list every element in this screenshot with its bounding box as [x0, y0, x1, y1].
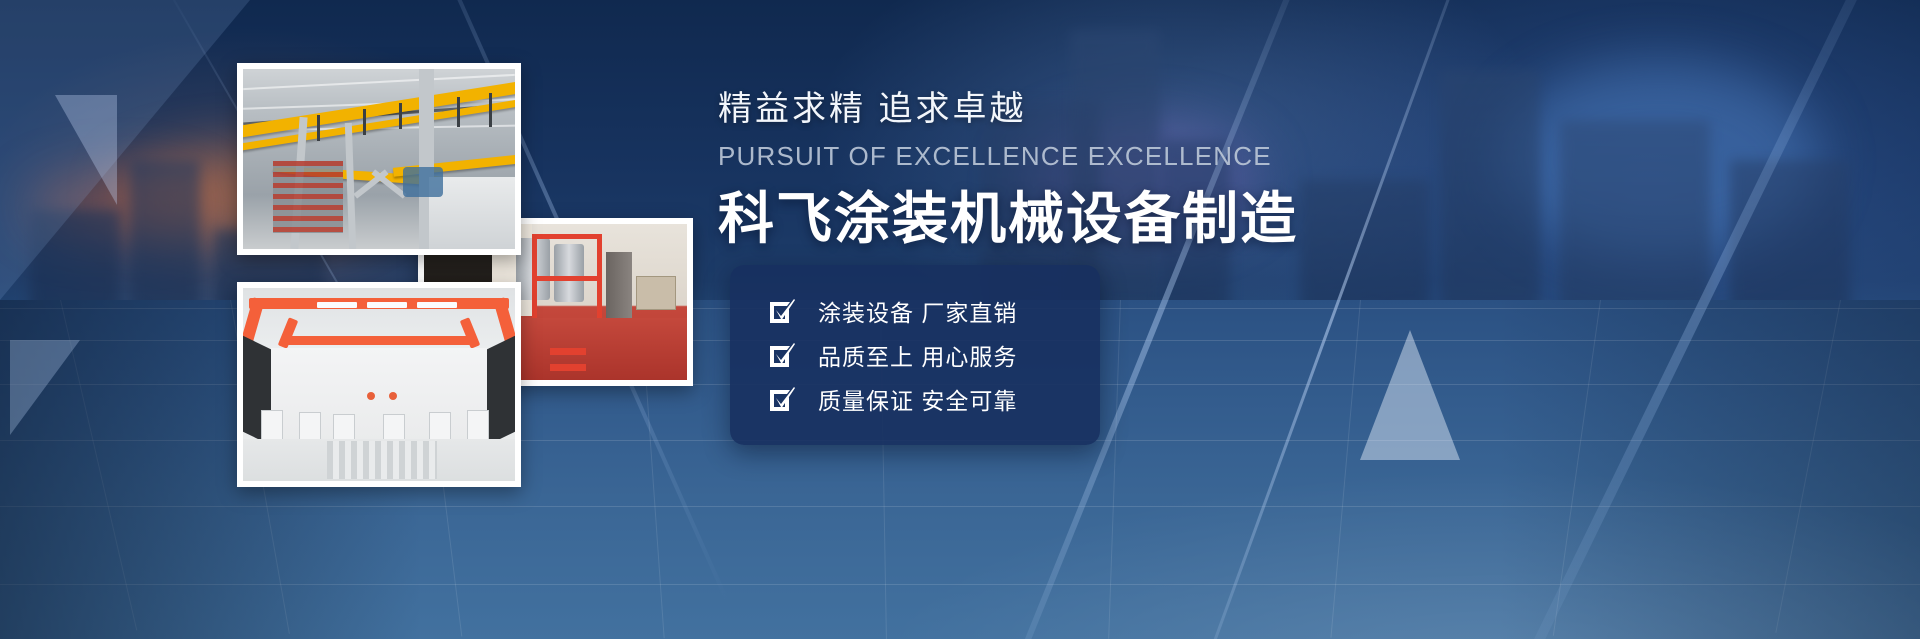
photo-detail [363, 109, 366, 135]
photo-detail [345, 123, 356, 249]
photo-spray-booth [237, 282, 521, 487]
photo-detail [457, 97, 460, 127]
photo-detail [273, 161, 343, 233]
photo-detail [403, 167, 443, 197]
photo-detail [489, 93, 492, 127]
feature-item: 质量保证 安全可靠 [768, 377, 1100, 421]
building [1440, 70, 1540, 330]
photo-detail [636, 276, 676, 310]
feature-label: 涂装设备 厂家直销 [818, 294, 1017, 328]
photo-detail [399, 103, 402, 129]
headline-block: 精益求精 追求卓越 PURSUIT OF EXCELLENCE EXCELLEN… [718, 92, 1318, 247]
photo-detail [417, 302, 457, 308]
checkbox-checked-icon [768, 385, 796, 413]
photo-detail [467, 410, 489, 442]
photo-detail [317, 115, 320, 141]
photo-detail [534, 276, 600, 281]
photo-detail [367, 392, 375, 400]
headline-english: PURSUIT OF EXCELLENCE EXCELLENCE [718, 143, 1318, 169]
feature-item: 品质至上 用心服务 [768, 333, 1100, 377]
light-triangle [55, 95, 117, 205]
light-ray [0, 0, 250, 300]
photo-detail [389, 392, 397, 400]
photo-detail [261, 410, 283, 442]
photo-image [243, 288, 515, 481]
checkbox-checked-icon [768, 297, 796, 325]
promo-banner: 精益求精 追求卓越 PURSUIT OF EXCELLENCE EXCELLEN… [0, 0, 1920, 639]
light-triangle [10, 340, 80, 435]
building [1560, 120, 1710, 330]
photo-detail [317, 302, 357, 308]
feature-item: 涂装设备 厂家直销 [768, 289, 1100, 333]
photo-image [243, 69, 515, 249]
light-triangle [1360, 330, 1460, 460]
photo-conveyor-line [237, 63, 521, 255]
page-title: 科飞涂装机械设备制造 [718, 191, 1318, 247]
photo-detail [367, 302, 407, 308]
feature-label: 品质至上 用心服务 [818, 338, 1017, 372]
feature-list-box: 涂装设备 厂家直销 品质至上 用心服务 质量 [730, 265, 1100, 445]
photo-detail [550, 364, 586, 371]
photo-detail [327, 441, 437, 479]
headline-chinese: 精益求精 追求卓越 [718, 92, 1318, 126]
photo-detail [550, 348, 586, 355]
photo-detail [287, 336, 471, 345]
checkbox-checked-icon [768, 341, 796, 369]
feature-label: 质量保证 安全可靠 [818, 382, 1017, 416]
